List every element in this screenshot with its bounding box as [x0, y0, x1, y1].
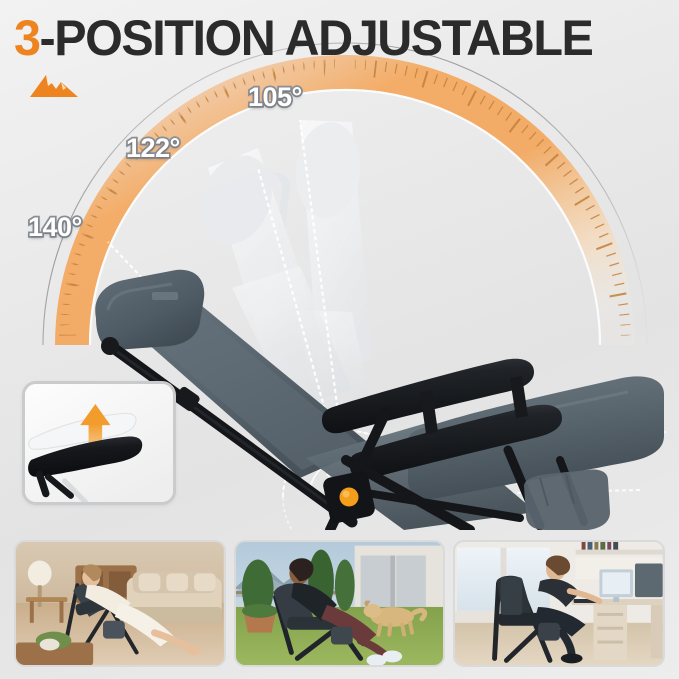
angle-label-122-text: 122°: [126, 133, 180, 163]
angle-label-105-text: 105°: [248, 82, 302, 112]
page-title: 3-POSITION ADJUSTABLE: [14, 12, 592, 64]
title-rest: -POSITION ADJUSTABLE: [40, 10, 593, 66]
photo-home-office-image: [455, 542, 663, 665]
living-room-scene: [16, 542, 224, 665]
armrest-detail-card: [22, 381, 176, 505]
photo-backyard[interactable]: [234, 540, 446, 667]
armrest-detail-svg: [25, 384, 173, 502]
photo-home-office[interactable]: [453, 540, 665, 667]
photo-living-room-image: [16, 542, 224, 665]
photo-living-room[interactable]: [14, 540, 226, 667]
home-office-scene: [455, 542, 663, 665]
pivot-highlight: [343, 491, 350, 498]
title-block: 3-POSITION ADJUSTABLE: [14, 12, 654, 102]
angle-label-140-text: 140°: [28, 212, 82, 242]
angle-label-105: 105°: [248, 82, 302, 113]
photo-backyard-image: [236, 542, 444, 665]
pivot-point-indicator: [340, 488, 359, 507]
product-infographic: 3-POSITION ADJUSTABLE 140° 122° 105°: [0, 0, 679, 679]
title-number: 3: [14, 10, 40, 66]
mountain-logo-icon: [26, 69, 86, 101]
backyard-scene: [236, 542, 444, 665]
angle-label-122: 122°: [126, 133, 180, 164]
chair-reclined-140: [95, 270, 664, 530]
lifestyle-photo-strip: [0, 534, 679, 679]
angle-label-140: 140°: [28, 212, 82, 243]
